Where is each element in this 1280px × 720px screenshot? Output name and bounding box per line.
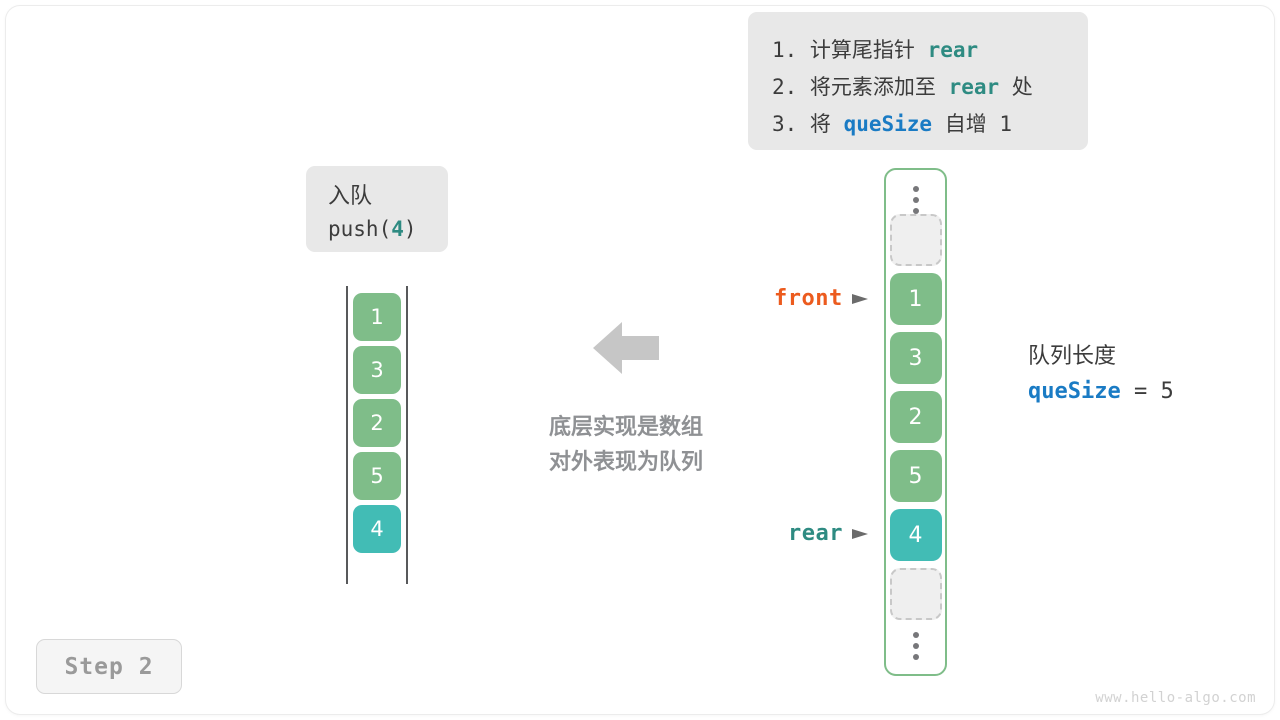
instruction-line-2-suffix: 处 [999,75,1033,99]
array-cell: 5 [890,450,942,502]
illustration-canvas: 1. 计算尾指针 rear 2. 将元素添加至 rear 处 3. 将 queS… [0,0,1280,720]
array-cell: 1 [890,273,942,325]
push-box-title: 入队 [328,180,448,213]
push-call-prefix: push( [328,217,391,241]
push-box-call: push(4) [328,213,448,246]
queue-cell: 5 [353,452,401,500]
push-operation-box: 入队 push(4) [306,166,448,252]
array-bottom-ellipsis-icon [913,632,919,660]
front-pointer-label: front [774,286,868,311]
rear-pointer-arrow-icon [852,527,868,541]
queue-cell: 3 [353,346,401,394]
instruction-line-3: 3. 将 queSize 自增 1 [772,106,1066,143]
instruction-line-1-prefix: 1. 计算尾指针 [772,38,928,62]
instruction-line-1-keyword: rear [928,38,979,62]
middle-caption: 底层实现是数组 对外表现为队列 [528,410,724,480]
quesize-value: 5 [1160,379,1173,404]
instruction-line-2-prefix: 2. 将元素添加至 [772,75,949,99]
watermark: www.hello-algo.com [1095,690,1256,706]
front-pointer-text: front [774,286,843,311]
middle-caption-line-1: 底层实现是数组 [528,410,724,445]
instruction-line-3-keyword: queSize [844,112,933,136]
array-cell: 3 [890,332,942,384]
queue-cell: 2 [353,399,401,447]
array-cell-highlighted: 4 [890,509,942,561]
quesize-annotation: 队列长度 queSize = 5 [1028,340,1258,410]
push-call-value: 4 [391,217,404,241]
instruction-line-3-prefix: 3. 将 [772,112,844,136]
queue-cell: 1 [353,293,401,341]
left-arrow-icon [593,320,659,376]
array-implementation-view: 1 3 2 5 4 [884,168,947,676]
instruction-line-1: 1. 计算尾指针 rear [772,32,1066,69]
queue-bracket-right [406,286,408,584]
quesize-expression: queSize = 5 [1028,374,1258,410]
rear-pointer-label: rear [788,521,868,546]
array-cell-empty [890,568,942,620]
rear-pointer-text: rear [788,521,843,546]
array-top-ellipsis-icon [913,186,919,214]
instruction-line-3-suffix: 自增 1 [932,112,1012,136]
queue-abstract-view: 1 3 2 5 4 [346,286,408,584]
push-call-suffix: ) [404,217,417,241]
quesize-label: 队列长度 [1028,340,1258,374]
queue-cell-highlighted: 4 [353,505,401,553]
instruction-line-2-keyword: rear [949,75,1000,99]
instruction-line-2: 2. 将元素添加至 rear 处 [772,69,1066,106]
step-badge: Step 2 [36,639,182,694]
queue-bracket-left [346,286,348,584]
array-cell-empty [890,214,942,266]
instruction-box: 1. 计算尾指针 rear 2. 将元素添加至 rear 处 3. 将 queS… [748,12,1088,150]
quesize-variable: queSize [1028,379,1121,404]
step-badge-label: Step 2 [64,654,153,680]
array-cell: 2 [890,391,942,443]
quesize-equals: = [1121,379,1161,404]
front-pointer-arrow-icon [852,292,868,306]
middle-caption-line-2: 对外表现为队列 [528,445,724,480]
